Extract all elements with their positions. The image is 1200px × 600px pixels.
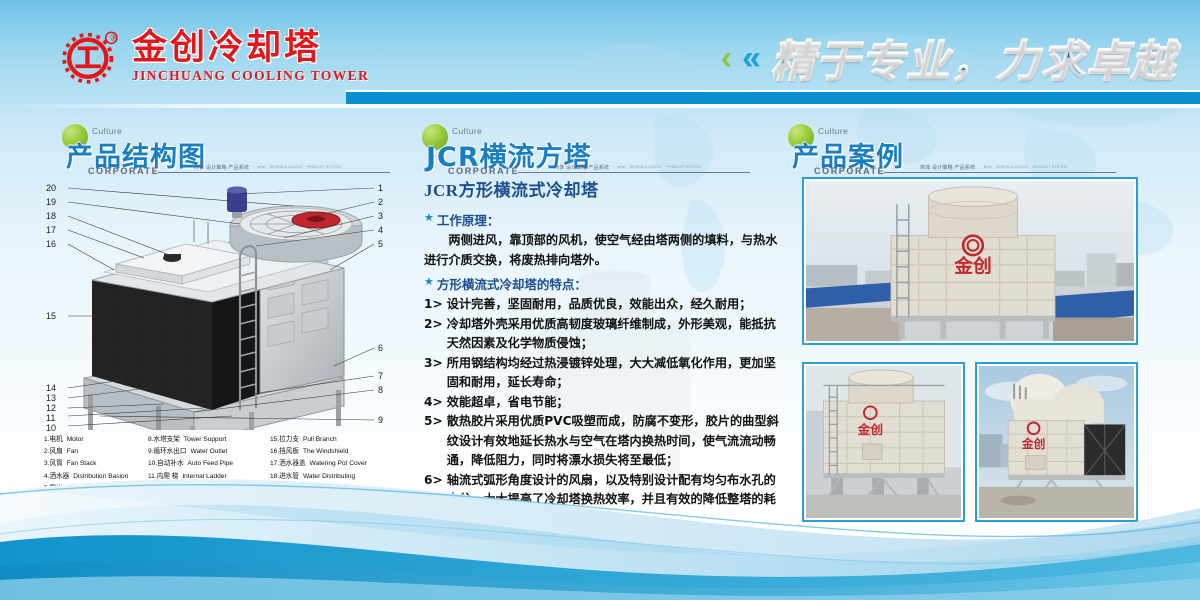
- list-item: 2>冷却塔外壳采用优质高韧度玻璃纤维制成，外形美观，能抵抗天然因素及化学物质侵蚀…: [424, 315, 780, 354]
- callout-19: 19: [46, 197, 56, 207]
- photo-brand-mark: 金创: [857, 422, 883, 437]
- section-heading-cases: Culture 产品案例 CORPORATE 简体 设计策略 产品系统 Brie…: [788, 122, 1118, 182]
- callout-12: 12: [46, 403, 56, 413]
- bottom-wave-decoration: [0, 470, 1200, 600]
- chevron-left-green-icon: ‹: [721, 41, 732, 75]
- section-corporate-label: CORPORATE: [448, 166, 519, 176]
- section-rule: [884, 172, 1116, 173]
- list-item: 5>散热胶片采用优质PVC吸塑而成，防腐不变形，胶片的曲型斜纹设计有效地延长热水…: [424, 412, 780, 471]
- section-heading-structure: Culture 产品结构图 CORPORATE 简体 设计策略 产品系统 Bri…: [62, 122, 392, 182]
- chevron-double-left-blue-icon: «: [742, 41, 761, 75]
- callout-13: 13: [46, 393, 56, 403]
- gear-logo-icon: ®: [58, 26, 120, 88]
- section-microtext-en: Brief · DESIGN & LAYOUT · PRODUCT SYSTEM: [984, 165, 1067, 169]
- section-corporate-label: CORPORATE: [814, 166, 885, 176]
- section-microtext: 简体 设计策略 产品系统: [554, 164, 609, 171]
- list-item: 9.循环水出口Water Outlet: [148, 446, 270, 458]
- section-microtext-en: Brief · DESIGN & LAYOUT · PRODUCT SYSTEM: [258, 165, 341, 169]
- product-structure-diagram: 1 2 3 4 5 6 7 8 9 20 19 18 17 16 15 14 1…: [44, 180, 396, 430]
- section-microtext-en: Brief · DESIGN & LAYOUT · PRODUCT SYSTEM: [618, 165, 701, 169]
- section-rule: [158, 172, 390, 173]
- brand-logo[interactable]: ® 金创冷却塔 JINCHUANG COOLING TOWER: [58, 26, 369, 88]
- callout-10: 10: [46, 423, 56, 433]
- callout-1: 1: [378, 183, 383, 193]
- list-item: 1.电机Motor: [44, 434, 148, 446]
- star-icon: ★: [424, 274, 434, 291]
- list-item: 4>效能超卓，省电节能；: [424, 393, 780, 413]
- header-blue-bar: [346, 90, 1200, 104]
- callout-8: 8: [378, 385, 383, 395]
- header-slogan: ‹ « 精于专业，力求卓越: [721, 27, 1176, 89]
- features-label: 方形横流式冷却塔的特点：: [437, 274, 587, 293]
- callout-5: 5: [378, 239, 383, 249]
- callout-14: 14: [46, 383, 56, 393]
- callout-3: 3: [378, 211, 383, 221]
- callout-9: 9: [378, 415, 383, 425]
- list-item: 8.水塔支架Tower Support: [148, 434, 270, 446]
- section-heading-jcr: Culture JCR横流方塔 CORPORATE 简体 设计策略 产品系统 B…: [422, 122, 752, 182]
- working-principle-heading: ★ 工作原理：: [424, 210, 780, 229]
- callout-17: 17: [46, 225, 56, 235]
- working-principle-text: 两侧进风，靠顶部的风机，使空气经由塔两侧的填料，与热水进行介质交换，将废热排向塔…: [424, 231, 780, 270]
- photo-brand-mark: 金创: [953, 256, 992, 278]
- star-icon: ★: [424, 210, 434, 227]
- callout-15: 15: [46, 311, 56, 321]
- list-item: 1>设计完善，坚固耐用，品质优良，效能出众，经久耐用；: [424, 295, 780, 315]
- cooling-tower-rooftop-photo[interactable]: 金创: [802, 177, 1138, 345]
- slogan-text: 精于专业，力求卓越: [771, 27, 1176, 89]
- page-header: ® 金创冷却塔 JINCHUANG COOLING TOWER ‹ « 精于专业…: [0, 0, 1200, 92]
- features-heading: ★ 方形横流式冷却塔的特点：: [424, 274, 780, 293]
- callout-20: 20: [46, 183, 56, 193]
- photo-brand-mark: 金创: [1021, 437, 1045, 451]
- list-item: 16.挡风板The Windshield: [270, 446, 400, 458]
- callout-18: 18: [46, 211, 56, 221]
- callout-2: 2: [378, 197, 383, 207]
- logo-english-name: JINCHUANG COOLING TOWER: [132, 68, 369, 84]
- list-item: 15.拉力支Pull Branch: [270, 434, 400, 446]
- list-item: 3>所用钢结构均经过热浸镀锌处理，大大减低氧化作用，更加坚固和耐用，延长寿命；: [424, 354, 780, 393]
- list-item: 17.洒水器盖Watering Pot Cover: [270, 458, 400, 470]
- section-microtext: 简体 设计策略 产品系统: [920, 164, 975, 171]
- working-principle-label: 工作原理：: [437, 210, 500, 229]
- callout-16: 16: [46, 239, 56, 249]
- tower-diagram-svg: [44, 180, 396, 430]
- list-item: 10.自动补水Auto Feed Pipe: [148, 458, 270, 470]
- section-corporate-label: CORPORATE: [88, 166, 159, 176]
- header-highlight-line: [0, 104, 1200, 108]
- section-microtext: 简体 设计策略 产品系统: [194, 164, 249, 171]
- list-item: 3.风筒Fan Stack: [44, 458, 148, 470]
- callout-7: 7: [378, 371, 383, 381]
- callout-4: 4: [378, 225, 383, 235]
- poster-page: ® 金创冷却塔 JINCHUANG COOLING TOWER ‹ « 精于专业…: [0, 0, 1200, 600]
- list-item: 2.风扇Fan: [44, 446, 148, 458]
- section-rule: [518, 172, 750, 173]
- photo-content: 金创: [806, 181, 1134, 341]
- callout-11: 11: [46, 413, 55, 423]
- callout-6: 6: [378, 343, 383, 353]
- jcr-heading: JCR方形横流式冷却塔: [424, 176, 780, 201]
- logo-chinese-name: 金创冷却塔: [132, 30, 322, 67]
